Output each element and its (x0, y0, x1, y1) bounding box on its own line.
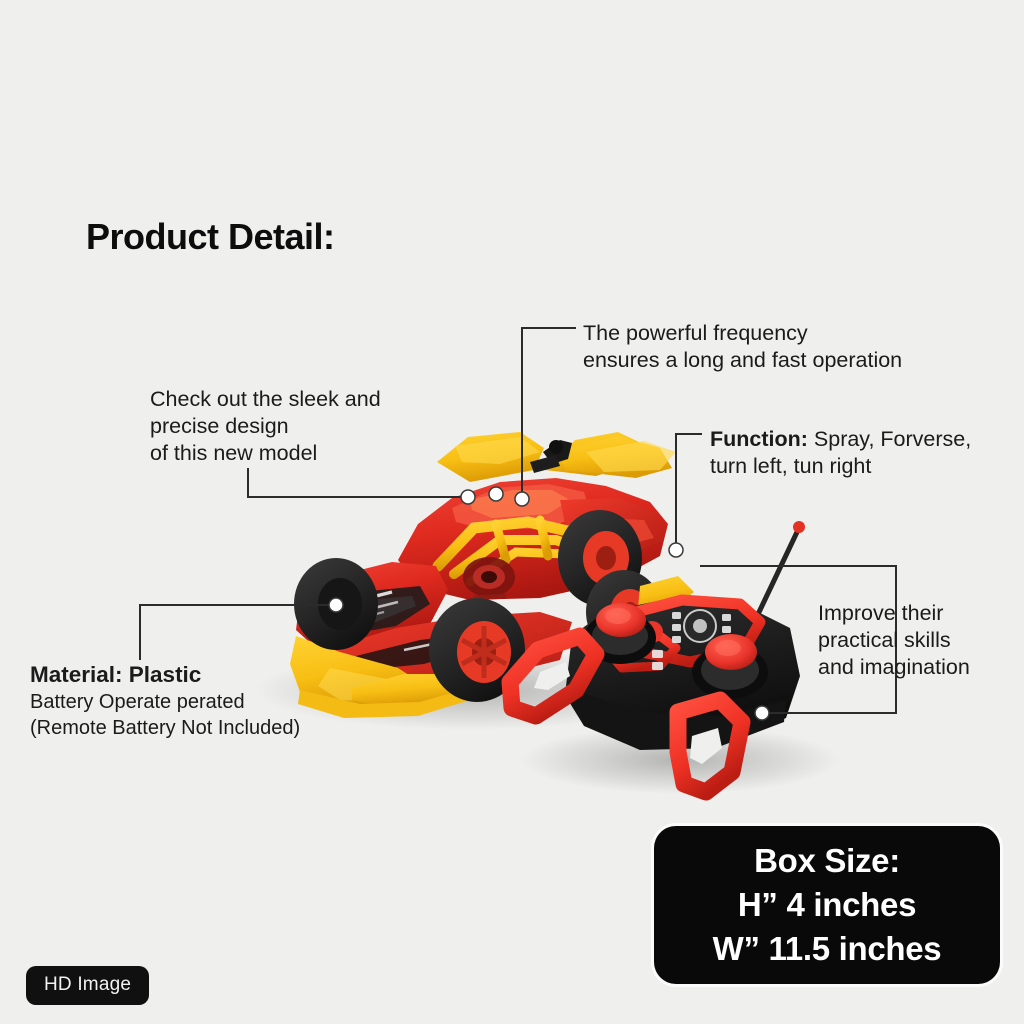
callout-design-line-3: of this new model (150, 440, 381, 467)
callout-improve-line-1: Improve their (818, 600, 970, 627)
callout-function-line-1: Function: Spray, Forverse, (710, 426, 971, 453)
box-size-line-1: Box Size: (754, 839, 900, 883)
hd-image-badge: HD Image (26, 966, 149, 1005)
box-size-line-3: W” 11.5 inches (713, 927, 942, 971)
infographic-canvas: Product Detail: The powerful frequency e… (0, 0, 1024, 1024)
car-wheel-front-left (294, 558, 378, 650)
callout-frequency-line-2: ensures a long and fast operation (583, 347, 902, 374)
callout-improve-line-2: practical skills (818, 627, 970, 654)
box-size-line-2: H” 4 inches (738, 883, 916, 927)
callout-design: Check out the sleek and precise design o… (150, 386, 381, 467)
box-size-badge: Box Size: H” 4 inches W” 11.5 inches (654, 826, 1000, 984)
callout-frequency: The powerful frequency ensures a long an… (583, 320, 902, 374)
callout-improve-line-3: and imagination (818, 654, 970, 681)
page-title: Product Detail: (86, 216, 335, 258)
callout-function: Function: Spray, Forverse, turn left, tu… (710, 426, 971, 480)
callout-material: Material: Plastic Battery Operate perate… (30, 661, 300, 741)
callout-function-lead: Function: (710, 427, 808, 451)
callout-frequency-line-1: The powerful frequency (583, 320, 902, 347)
callout-function-rest: Spray, Forverse, (808, 427, 971, 451)
callout-function-line-2: turn left, tun right (710, 453, 971, 480)
callout-improve: Improve their practical skills and imagi… (818, 600, 970, 681)
callout-design-line-1: Check out the sleek and (150, 386, 381, 413)
callout-design-line-2: precise design (150, 413, 381, 440)
callout-material-line-1: Battery Operate perated (30, 689, 300, 715)
callout-material-title: Material: Plastic (30, 661, 300, 689)
callout-material-line-2: (Remote Battery Not Included) (30, 715, 300, 741)
